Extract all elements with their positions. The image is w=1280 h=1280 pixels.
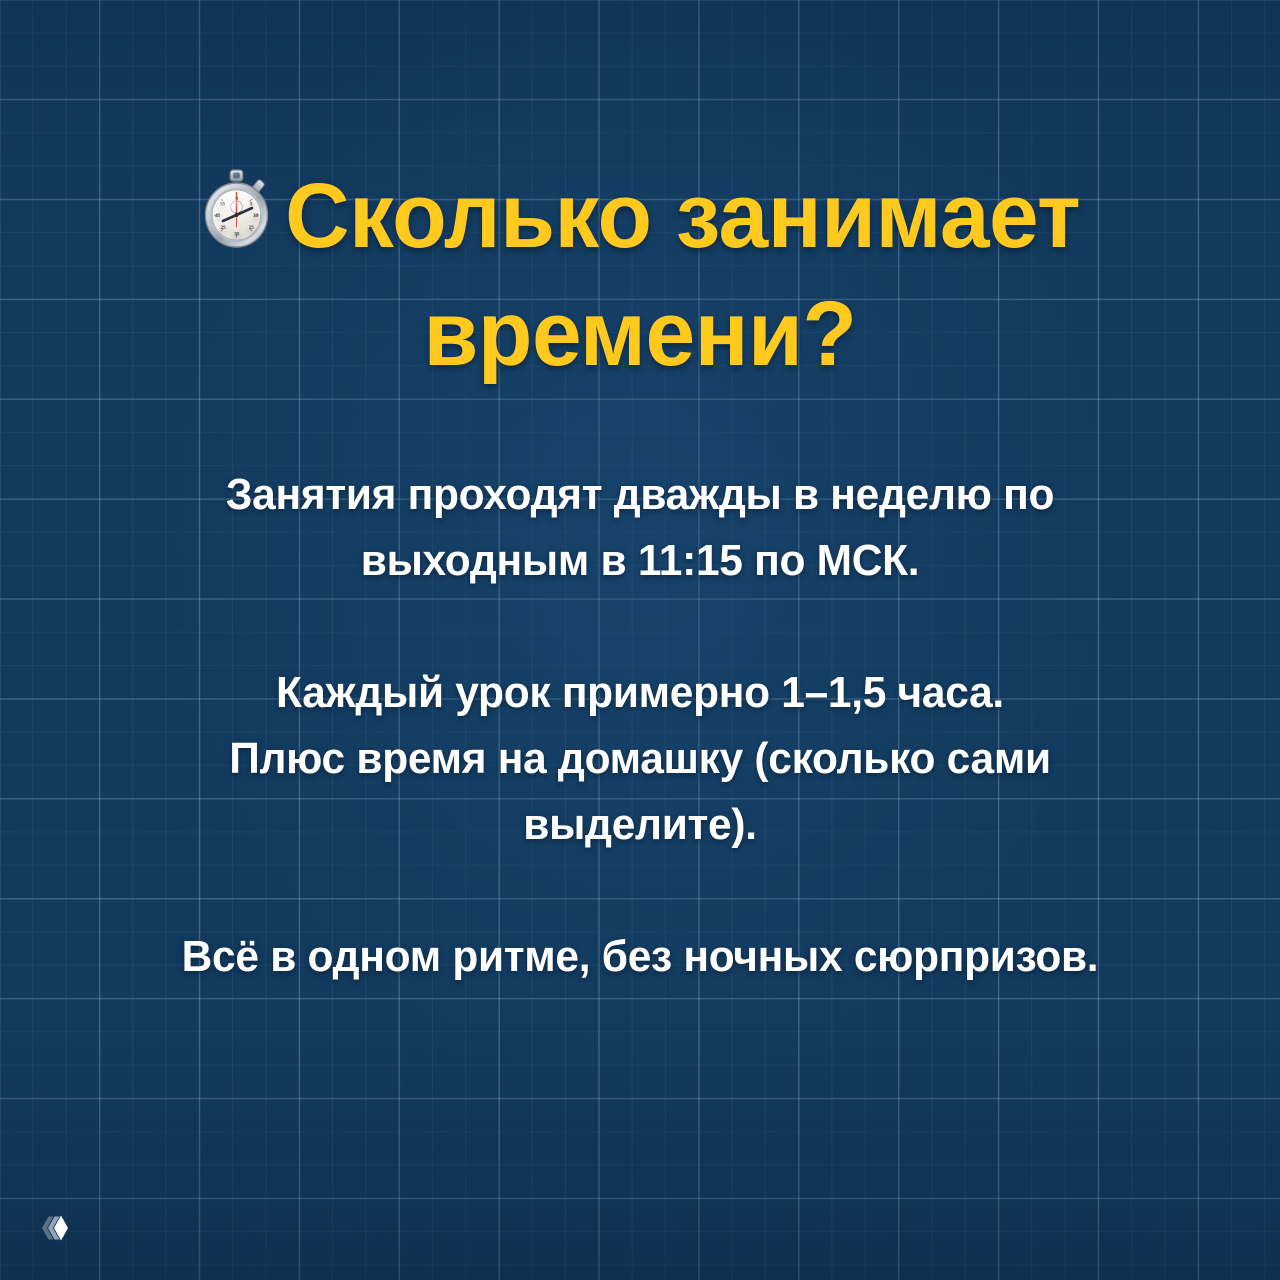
body-paragraph-3: Всё в одном ритме, без ночных сюрпризов. [98,924,1183,990]
title-block: 05101530254555Сколько занимает времени? [0,158,1280,394]
page-title: 05101530254555Сколько занимает времени? [87,158,1193,394]
stacked-chevron-logo [34,1204,82,1252]
body-line: выделите). [523,800,756,849]
body-paragraph-1: Занятия проходят дважды в неделю по выхо… [98,462,1183,594]
body-line: Всё в одном ритме, без ночных сюрпризов. [182,932,1099,981]
body-block: Занятия проходят дважды в неделю по выхо… [0,462,1280,990]
svg-text:5: 5 [250,201,253,207]
body-line: Занятия проходят дважды в неделю по [226,470,1054,519]
slide-content: 05101530254555Сколько занимает времени? … [0,0,1280,1280]
slide-canvas: 05101530254555Сколько занимает времени? … [0,0,1280,1280]
svg-text:45: 45 [215,213,220,219]
svg-text:30: 30 [234,231,239,237]
svg-text:15: 15 [249,225,254,231]
body-line: выходным в 11:15 по МСК. [361,536,919,585]
page-title-text: Сколько занимает времени? [285,165,1080,385]
paragraph-spacer [78,858,1202,924]
body-paragraph-2: Каждый урок примерно 1–1,5 часа. Плюс вр… [98,660,1183,858]
paragraph-spacer [78,594,1202,660]
svg-text:25: 25 [221,225,226,231]
svg-text:10: 10 [253,213,258,219]
body-line: Каждый урок примерно 1–1,5 часа. [276,668,1004,717]
stopwatch-icon: 05101530254555 [200,164,274,250]
body-line: Плюс время на домашку (сколько сами [229,734,1051,783]
